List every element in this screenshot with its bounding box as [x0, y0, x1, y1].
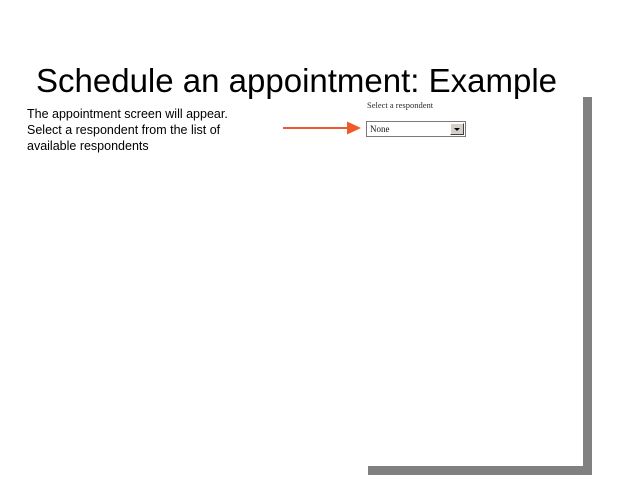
body-paragraph: The appointment screen will appear. Sele…: [27, 106, 255, 154]
right-vertical-rule: [583, 97, 592, 475]
bottom-horizontal-rule: [368, 466, 592, 475]
chevron-down-glyph: [454, 128, 460, 131]
page-title: Schedule an appointment: Example: [36, 61, 616, 101]
slide-canvas: Schedule an appointment: Example The app…: [0, 0, 640, 480]
arrow-right-icon: [283, 119, 365, 137]
arrow-head: [347, 122, 361, 135]
respondent-dropdown[interactable]: None: [366, 121, 466, 137]
respondent-dropdown-value: None: [367, 122, 450, 136]
select-respondent-label: Select a respondent: [367, 100, 433, 111]
chevron-down-icon[interactable]: [450, 123, 464, 135]
